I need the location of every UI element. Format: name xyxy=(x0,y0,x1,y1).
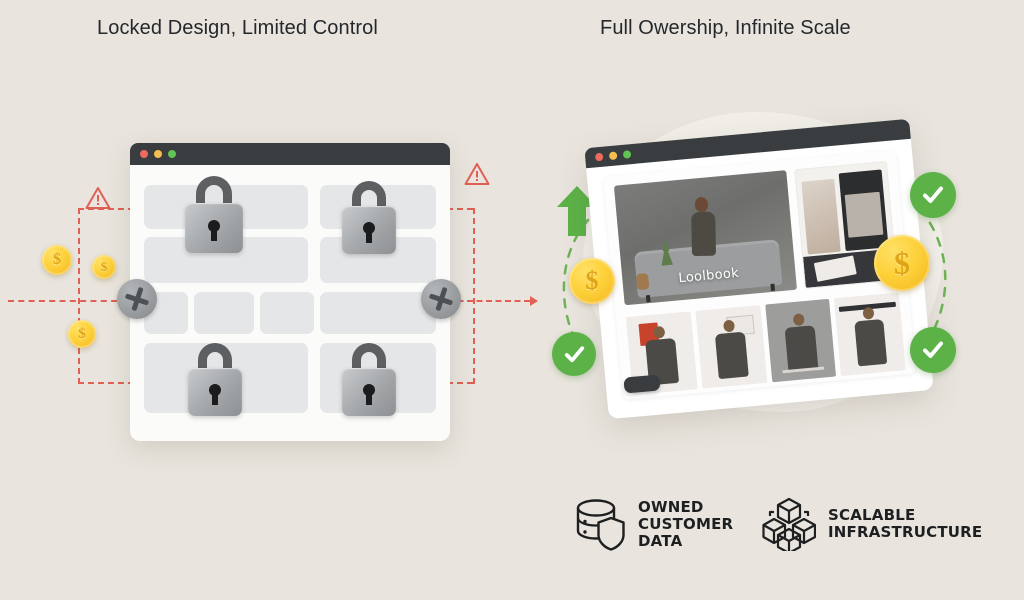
model-head-shape xyxy=(695,197,709,213)
remote-device-shape xyxy=(623,374,660,393)
database-shield-icon xyxy=(574,497,626,551)
screw-icon-right[interactable] xyxy=(421,279,461,319)
product-thumbnail[interactable] xyxy=(834,292,906,376)
check-circle-icon-bottom-right xyxy=(910,327,956,373)
product-thumbnail-row xyxy=(626,292,906,395)
dollar-coin-icon-right-1: $ xyxy=(569,258,615,304)
thumb-figure xyxy=(854,319,888,367)
traffic-light-minimize-icon[interactable] xyxy=(609,151,618,160)
thumb-figure-head xyxy=(654,326,666,339)
check-circle-icon-bottom-left xyxy=(552,332,596,376)
thumb-figure-head xyxy=(862,307,874,320)
thumb-figure xyxy=(784,325,818,373)
warning-triangle-icon-left xyxy=(85,186,111,210)
feature-label: SCALABLE INFRASTRUCTURE xyxy=(828,507,982,541)
screw-icon-left[interactable] xyxy=(117,279,157,319)
feature-label: OWNED CUSTOMER DATA xyxy=(638,499,733,550)
feature-scalable-infrastructure: SCALABLE INFRASTRUCTURE xyxy=(762,497,982,551)
padlock-icon-2 xyxy=(342,181,396,254)
hero-image[interactable]: Loolbook xyxy=(614,170,797,305)
locked-browser-window[interactable] xyxy=(130,143,450,441)
padlock-icon-3 xyxy=(188,343,242,416)
dollar-coin-icon-left-2: $ xyxy=(92,255,116,279)
left-panel-title: Locked Design, Limited Control xyxy=(97,17,378,40)
dollar-coin-icon-left-1: $ xyxy=(42,245,72,275)
placeholder-block xyxy=(320,292,436,334)
infographic-canvas: Locked Design, Limited Control Full Ower… xyxy=(0,0,1024,600)
hero-row: Loolbook xyxy=(614,161,898,305)
dashed-line-left-edge xyxy=(78,208,80,384)
warning-triangle-icon-right xyxy=(464,162,490,186)
placeholder-block xyxy=(194,292,254,334)
model-body-shape xyxy=(691,211,716,255)
right-panel-title: Full Owership, Infinite Scale xyxy=(600,17,851,40)
traffic-light-maximize-icon[interactable] xyxy=(168,150,176,158)
placeholder-block xyxy=(260,292,314,334)
dollar-coin-icon-right-2: $ xyxy=(874,235,930,291)
padlock-icon-4 xyxy=(342,343,396,416)
thumb-figure-head xyxy=(793,314,805,327)
cubes-infrastructure-icon xyxy=(762,497,816,551)
left-window-titlebar xyxy=(130,143,450,165)
traffic-light-close-icon[interactable] xyxy=(140,150,148,158)
thumb-figure xyxy=(715,332,749,380)
traffic-light-maximize-icon[interactable] xyxy=(623,150,632,159)
side-thumb-frame-left xyxy=(801,179,840,255)
side-thumb-frame-right xyxy=(838,170,889,252)
product-thumbnail[interactable] xyxy=(695,305,767,389)
feature-owned-customer-data: OWNED CUSTOMER DATA xyxy=(574,497,733,551)
store-content-area: Loolbook xyxy=(603,150,916,400)
padlock-icon-1 xyxy=(185,176,243,253)
product-thumbnail[interactable] xyxy=(765,299,837,383)
traffic-light-minimize-icon[interactable] xyxy=(154,150,162,158)
check-circle-icon-top-right xyxy=(910,172,956,218)
traffic-light-close-icon[interactable] xyxy=(595,153,604,162)
dollar-coin-icon-left-3: $ xyxy=(68,320,96,348)
dashed-line-right-edge xyxy=(473,208,475,384)
dashed-arrowhead xyxy=(530,296,538,306)
